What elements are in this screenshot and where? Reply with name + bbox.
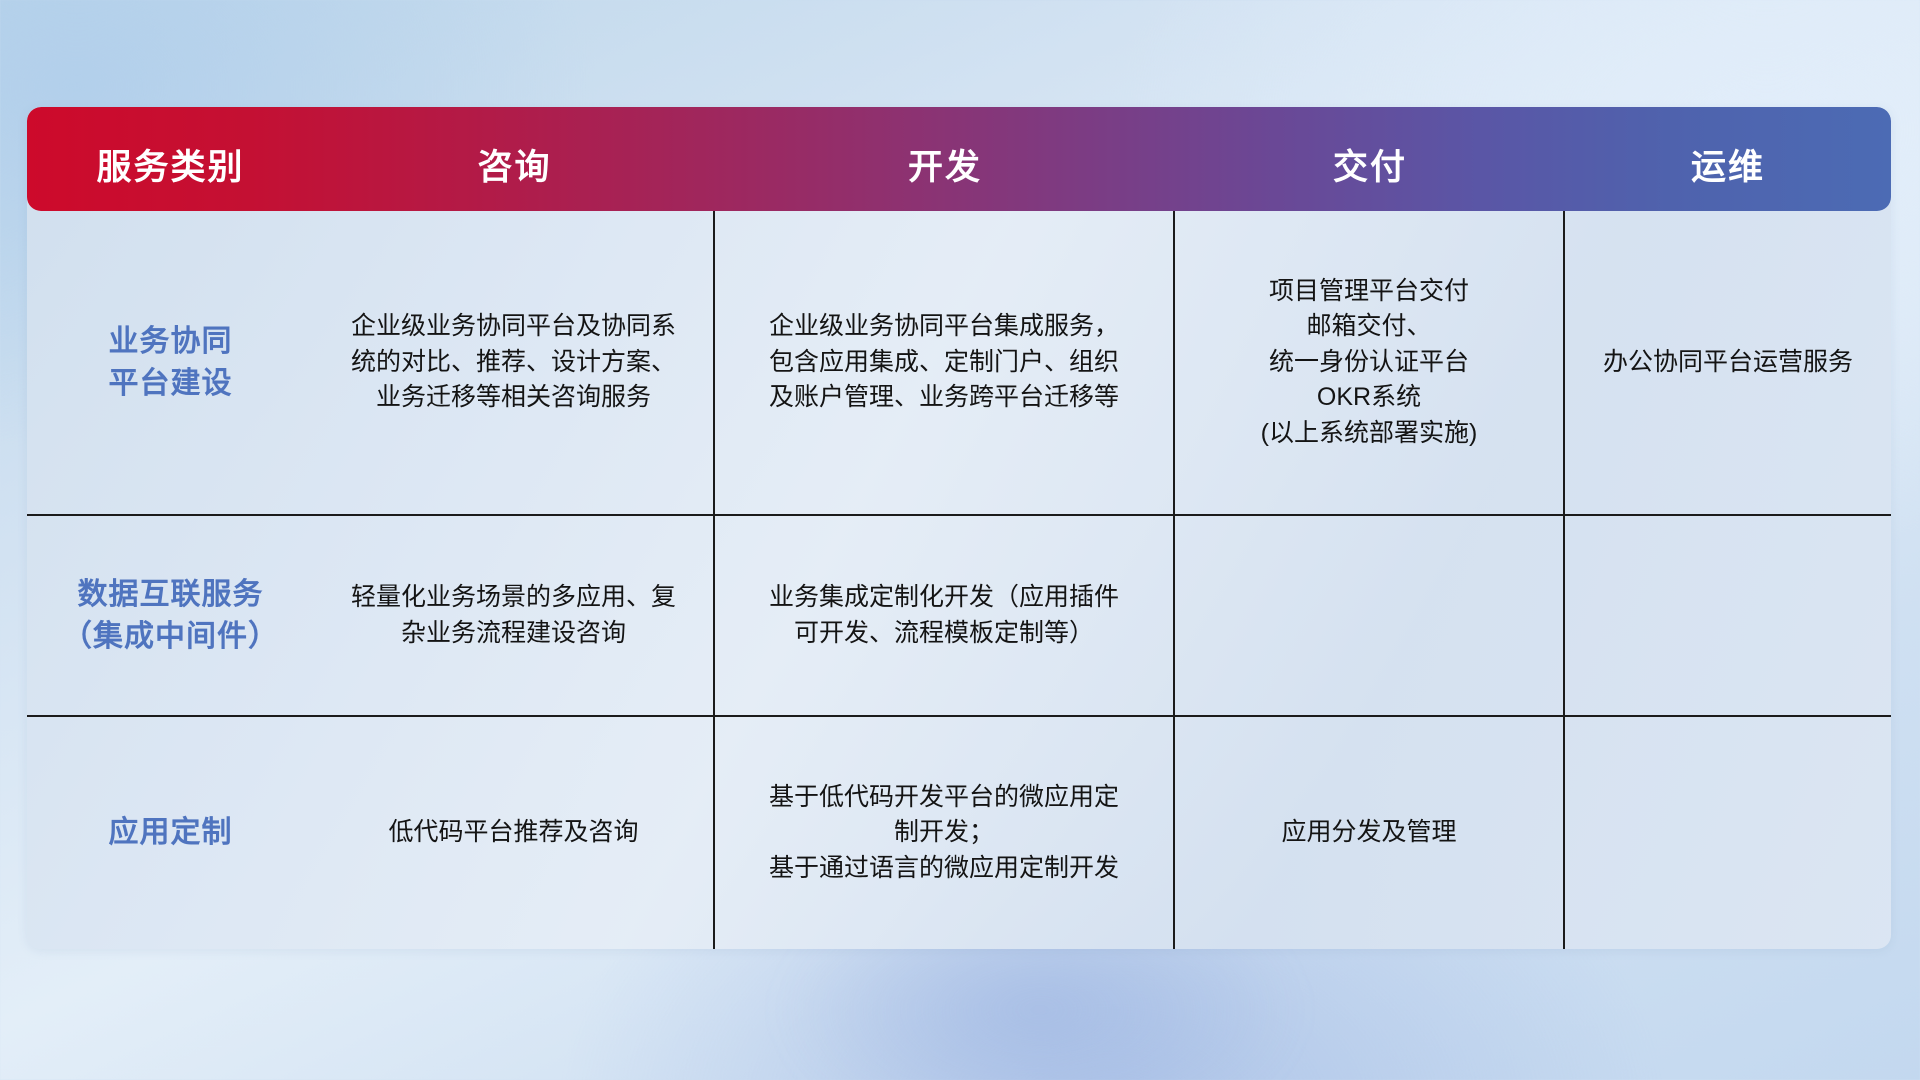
cell-operations bbox=[1565, 516, 1891, 715]
table-header-row: 服务类别 咨询 开发 交付 运维 bbox=[27, 107, 1891, 211]
column-header-operations: 运维 bbox=[1565, 150, 1891, 211]
cell-consulting: 轻量化业务场景的多应用、复 杂业务流程建设咨询 bbox=[314, 516, 715, 715]
cell-category: 数据互联服务 （集成中间件） bbox=[27, 516, 314, 715]
cell-delivery: 项目管理平台交付 邮箱交付、 统一身份认证平台 OKR系统 (以上系统部署实施) bbox=[1175, 211, 1565, 514]
table-row: 应用定制 低代码平台推荐及咨询 基于低代码开发平台的微应用定 制开发； 基于通过… bbox=[27, 717, 1891, 949]
cell-category: 应用定制 bbox=[27, 717, 314, 949]
table-row: 业务协同 平台建设 企业级业务协同平台及协同系 统的对比、推荐、设计方案、 业务… bbox=[27, 211, 1891, 516]
cell-consulting: 低代码平台推荐及咨询 bbox=[314, 717, 715, 949]
table-row: 数据互联服务 （集成中间件） 轻量化业务场景的多应用、复 杂业务流程建设咨询 业… bbox=[27, 516, 1891, 717]
service-category-table: 服务类别 咨询 开发 交付 运维 业务协同 平台建设 企业级业务协同平台及协同系… bbox=[27, 107, 1891, 949]
cell-category: 业务协同 平台建设 bbox=[27, 211, 314, 514]
cell-development: 企业级业务协同平台集成服务， 包含应用集成、定制门户、组织 及账户管理、业务跨平… bbox=[715, 211, 1175, 514]
cell-operations bbox=[1565, 717, 1891, 949]
column-header-development: 开发 bbox=[715, 150, 1175, 211]
cell-development: 基于低代码开发平台的微应用定 制开发； 基于通过语言的微应用定制开发 bbox=[715, 717, 1175, 949]
cell-operations: 办公协同平台运营服务 bbox=[1565, 211, 1891, 514]
column-header-service-category: 服务类别 bbox=[27, 150, 314, 211]
cell-consulting: 企业级业务协同平台及协同系 统的对比、推荐、设计方案、 业务迁移等相关咨询服务 bbox=[314, 211, 715, 514]
column-header-delivery: 交付 bbox=[1175, 150, 1565, 211]
column-header-consulting: 咨询 bbox=[314, 150, 715, 211]
table-body: 业务协同 平台建设 企业级业务协同平台及协同系 统的对比、推荐、设计方案、 业务… bbox=[27, 211, 1891, 949]
cell-delivery: 应用分发及管理 bbox=[1175, 717, 1565, 949]
cell-delivery bbox=[1175, 516, 1565, 715]
cell-development: 业务集成定制化开发（应用插件 可开发、流程模板定制等） bbox=[715, 516, 1175, 715]
